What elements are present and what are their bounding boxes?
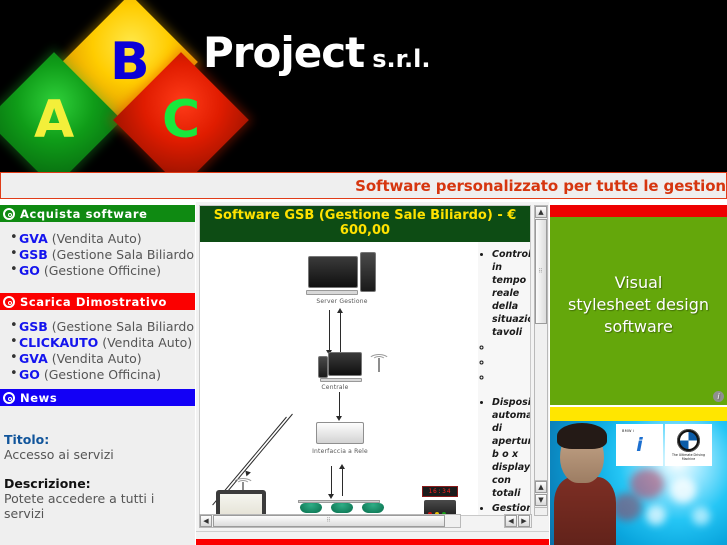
server-label: Server Gestione (297, 298, 387, 305)
product-code: GVA (19, 231, 48, 246)
billiard-lamp-icon (331, 503, 353, 513)
billiard-lamp-icon (300, 503, 322, 513)
sidebar-section-title: News (20, 391, 57, 405)
arrow-lamp-up (342, 466, 343, 496)
scroll-grip: ⠿ (538, 270, 543, 274)
product-panel: Software GSB (Gestione Sale Biliardo) - … (196, 202, 549, 545)
server-tower-icon (360, 252, 376, 292)
scroll-thumb-vertical[interactable]: ⠿ (535, 219, 547, 324)
ad-person-body (554, 477, 616, 545)
page-content: Acquista software GVA (Vendita Auto) GSB… (0, 202, 727, 545)
sidebar-list-acquista: GVA (Vendita Auto) GSB (Gestione Sala Bi… (0, 231, 195, 279)
network-diagram: Server Gestione Centrale (200, 242, 480, 516)
feature-horizontal-scrollbar[interactable]: ◀ ▶ (504, 514, 532, 528)
list-item[interactable]: GO (Gestione Officine) (10, 263, 195, 279)
ad-bokeh (612, 493, 642, 521)
feature-item: Dispositivo automatico di apertura b o x… (492, 396, 530, 500)
feature-subitem (492, 356, 530, 369)
bullseye-icon (3, 296, 15, 308)
sidebar-section-title: Acquista software (20, 207, 148, 221)
arrow-lamp-down (331, 466, 332, 496)
arrow-down-line (329, 310, 330, 352)
product-code: GSB (19, 247, 48, 262)
feature-subitem (492, 341, 530, 354)
product-inner: Server Gestione Centrale (200, 242, 530, 516)
feature-scroll-up-button[interactable]: ▲ (535, 481, 547, 493)
sidebar-section-news[interactable]: News (0, 389, 195, 406)
feature-item: Controllo in tempo reale della situazion… (492, 248, 530, 339)
central-monitor-icon (328, 352, 362, 376)
news-body: Titolo: Accesso ai servizi Descrizione: … (0, 406, 195, 521)
product-horizontal-scrollbar[interactable]: ◀ ⠿ (199, 514, 461, 528)
brand-wordmark: Projects.r.l. (203, 28, 431, 77)
list-item[interactable]: GVA (Vendita Auto) (10, 351, 195, 367)
ad-red-top-strip (550, 205, 727, 217)
arrow-up-head (337, 308, 343, 313)
brand-name: Project (203, 28, 364, 77)
news-titolo-label: Titolo: (4, 432, 195, 447)
server-monitor-icon (308, 256, 358, 288)
feature-scroll-right-button[interactable]: ▶ (518, 515, 530, 527)
product-code: GVA (19, 351, 48, 366)
central-keyboard-icon (320, 378, 362, 382)
list-item[interactable]: GSB (Gestione Sala Biliardo) (10, 319, 195, 335)
product-code: GSB (19, 319, 48, 334)
arrow-down-line-2 (339, 392, 340, 418)
product-code: CLICKAUTO (19, 335, 98, 350)
bmw-roundel-icon (677, 429, 700, 452)
list-item[interactable]: CLICKAUTO (Vendita Auto) (10, 335, 195, 351)
product-code: GO (19, 367, 40, 382)
diagonal-arrow-head (243, 469, 251, 477)
feature-scroll-left-button[interactable]: ◀ (505, 515, 517, 527)
scroll-thumb-horizontal[interactable]: ⠿ (213, 515, 445, 527)
news-titolo-value: Accesso ai servizi (4, 447, 195, 462)
bullseye-icon (3, 392, 15, 404)
sidebar: Acquista software GVA (Vendita Auto) GSB… (0, 205, 195, 545)
news-descrizione-label: Descrizione: (4, 476, 195, 491)
bottom-separator (196, 531, 549, 532)
logo-letter-a: A (34, 94, 74, 146)
central-tower-icon (318, 356, 328, 378)
pos-terminal-icon (214, 490, 270, 516)
relay-interface-label: Interfaccia a Rele (295, 448, 385, 455)
feature-list-column: Controllo in tempo reale della situazion… (478, 242, 530, 516)
scroll-grip: ⠿ (326, 519, 331, 523)
site-header: B A C Projects.r.l. (0, 0, 727, 172)
ad-yellow-top-strip (550, 407, 727, 421)
ad-bokeh (692, 507, 710, 525)
ad-bokeh (646, 505, 666, 525)
product-desc: (Vendita Auto) (48, 231, 142, 246)
product-frame: Software GSB (Gestione Sale Biliardo) - … (199, 205, 531, 516)
logo-letter-c: C (162, 94, 200, 146)
logo-letter-b: B (110, 36, 150, 88)
server-keyboard-icon (306, 290, 358, 295)
feature-sublist (478, 341, 530, 384)
scroll-up-button[interactable]: ▲ (535, 206, 547, 218)
ad-line-1: Visual (568, 272, 709, 294)
feature-scroll-down-button[interactable]: ▼ (535, 494, 547, 506)
ad-person-hair (557, 423, 607, 449)
list-item[interactable]: GVA (Vendita Auto) (10, 231, 195, 247)
product-title: Software GSB (Gestione Sale Biliardo) - … (200, 206, 530, 242)
ad-person-photo (554, 425, 616, 545)
product-desc: (Vendita Auto) (98, 335, 192, 350)
bottom-red-strip (196, 539, 549, 545)
bmw-i-card: BMW i i (616, 424, 663, 466)
arrow-down-head-2 (336, 416, 342, 421)
product-vertical-scrollbar[interactable]: ▲ ⠿ (534, 205, 548, 516)
bullseye-icon (3, 208, 15, 220)
relay-interface-icon (316, 422, 364, 444)
feature-subitem (492, 371, 530, 384)
abc-logo: B A C (0, 0, 460, 172)
sidebar-section-scarica-dimostrativo[interactable]: Scarica Dimostrativo (0, 293, 195, 310)
bmw-tagline: The Ultimate Driving Machine (665, 453, 712, 461)
scroll-left-button[interactable]: ◀ (200, 515, 212, 527)
ad-line-3: software (568, 316, 709, 338)
sidebar-section-acquista-software[interactable]: Acquista software (0, 205, 195, 222)
product-desc: (Gestione Officine) (40, 263, 161, 278)
ad-visual-stylesheet[interactable]: Visual stylesheet design software i (550, 205, 727, 405)
ad-bmw-logos: BMW i i The Ultimate Driving Machine (616, 424, 712, 466)
tagline-text: Software personalizzato per tutte le ges… (355, 177, 726, 195)
list-item[interactable]: GSB (Gestione Sala Biliardo) (10, 247, 195, 263)
led-display-icon: 16:34 (422, 486, 458, 497)
ad-bokeh (670, 477, 696, 503)
bmw-i-label: BMW i (622, 429, 634, 433)
product-desc: (Vendita Auto) (48, 351, 142, 366)
ad-column: Visual stylesheet design software i BMW … (550, 202, 727, 545)
tagline-bar: Software personalizzato per tutte le ges… (0, 172, 727, 199)
sidebar-section-title: Scarica Dimostrativo (20, 295, 167, 309)
product-desc: (Gestione Officina) (40, 367, 161, 382)
brand-suffix: s.r.l. (372, 45, 430, 73)
news-descrizione-value: Potete accedere a tutti i servizi (4, 491, 195, 521)
sidebar-list-scarica: GSB (Gestione Sala Biliardo) CLICKAUTO (… (0, 319, 195, 383)
product-desc: (Gestione Sala Biliardo) (48, 319, 195, 334)
ad-info-icon[interactable]: i (713, 391, 724, 402)
arrow-lamp-down-head (328, 494, 334, 499)
list-item[interactable]: GO (Gestione Officina) (10, 367, 195, 383)
product-code: GO (19, 263, 40, 278)
central-label: Centrale (290, 384, 380, 391)
wifi-antenna-icon (368, 354, 390, 374)
ad-green-text: Visual stylesheet design software (568, 272, 709, 338)
arrow-lamp-up-head (339, 464, 345, 469)
bmw-i-glyph: i (636, 436, 643, 455)
arrow-up-line (340, 310, 341, 352)
product-desc: (Gestione Sala Biliardo) (48, 247, 195, 262)
pos-screen (216, 490, 266, 516)
ad-line-2: stylesheet design (568, 294, 709, 316)
feature-vertical-scrollbar[interactable]: ▲ ▼ (534, 480, 548, 508)
billiard-lamp-icon (362, 503, 384, 513)
bmw-roundel-card: The Ultimate Driving Machine (665, 424, 712, 466)
ad-bmw[interactable]: BMW i i The Ultimate Driving Machine (550, 407, 727, 545)
feature-list: Controllo in tempo reale della situazion… (478, 248, 530, 516)
